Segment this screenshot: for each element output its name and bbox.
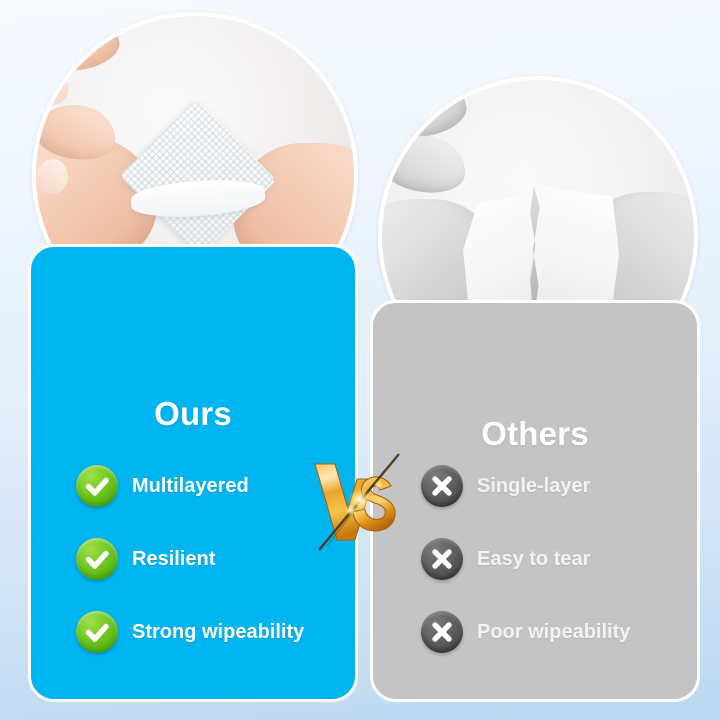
ours-feature-list: Multilayered Resilient Strong wipeabilit… <box>31 465 355 684</box>
feature-label: Multilayered <box>132 476 249 496</box>
others-feature-list: Single-layer Easy to tear Poor wipeabili… <box>373 465 697 684</box>
left-thumbnail-shape <box>32 67 71 109</box>
feature-row: Strong wipeability <box>31 611 355 653</box>
left-thumb-shape <box>32 12 122 76</box>
comparison-infographic: Ours Multilayered Resilient <box>0 0 720 720</box>
ours-panel: Ours Multilayered Resilient <box>28 244 358 702</box>
vs-badge-icon <box>313 452 397 552</box>
feature-label: Strong wipeability <box>132 622 304 642</box>
feature-row: Single-layer <box>373 465 697 507</box>
right-thumb-shape-gray <box>378 130 470 199</box>
others-panel: Others Single-layer Easy to tear <box>370 300 700 702</box>
feature-label: Resilient <box>132 549 215 569</box>
ours-title: Ours <box>31 395 355 433</box>
feature-row: Resilient <box>31 538 355 580</box>
left-thumb-shape-gray <box>378 76 470 143</box>
feature-row: Multilayered <box>31 465 355 507</box>
feature-label: Easy to tear <box>477 549 590 569</box>
cross-circle-icon <box>421 538 463 580</box>
cross-circle-icon <box>421 465 463 507</box>
check-circle-icon <box>76 611 118 653</box>
feature-label: Poor wipeability <box>477 622 630 642</box>
cross-circle-icon <box>421 611 463 653</box>
feature-row: Easy to tear <box>373 538 697 580</box>
check-circle-icon <box>76 538 118 580</box>
others-title: Others <box>373 415 697 453</box>
check-circle-icon <box>76 465 118 507</box>
feature-label: Single-layer <box>477 476 590 496</box>
feature-row: Poor wipeability <box>373 611 697 653</box>
